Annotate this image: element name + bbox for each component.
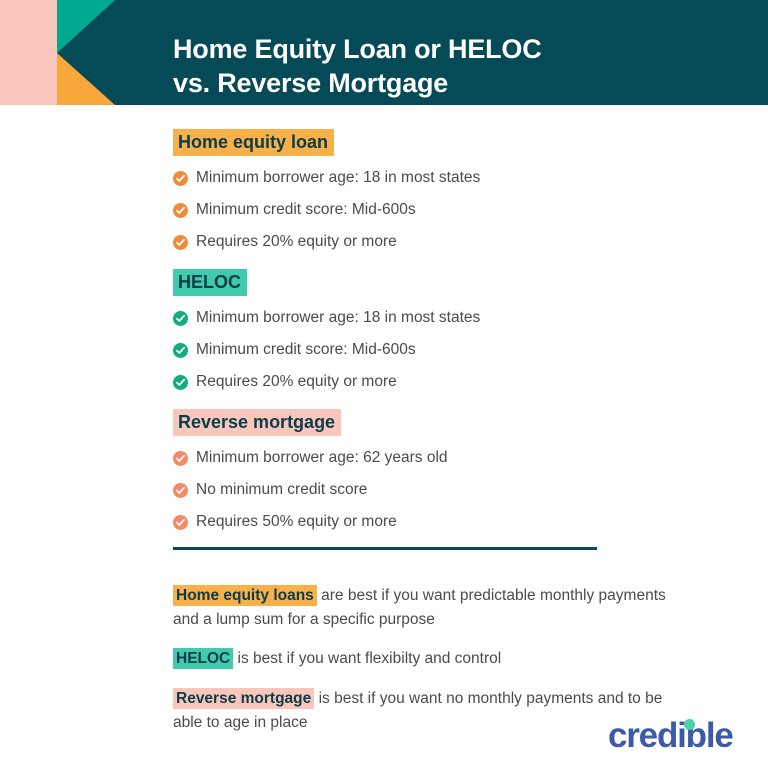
list-item: No minimum credit score — [173, 480, 733, 500]
section-heloc: HELOC Minimum borrower age: 18 in most s… — [173, 269, 733, 392]
section-heading-reverse-mortgage: Reverse mortgage — [173, 409, 341, 436]
list-item-label: Minimum borrower age: 18 in most states — [196, 168, 480, 188]
summary-line-heloc: HELOC is best if you want flexibilty and… — [173, 647, 673, 671]
list-item: Requires 50% equity or more — [173, 512, 733, 532]
section-reverse-mortgage: Reverse mortgage Minimum borrower age: 6… — [173, 409, 733, 532]
check-circle-icon — [173, 343, 188, 358]
bullet-list-home-equity-loan: Minimum borrower age: 18 in most states … — [173, 168, 733, 252]
section-home-equity-loan: Home equity loan Minimum borrower age: 1… — [173, 129, 733, 252]
list-item: Minimum borrower age: 62 years old — [173, 448, 733, 468]
summary-line-reverse-mortgage: Reverse mortgage is best if you want no … — [173, 687, 673, 735]
list-item: Requires 20% equity or more — [173, 232, 733, 252]
credible-logo-wordmark: credible — [608, 716, 733, 755]
list-item-label: No minimum credit score — [196, 480, 367, 500]
list-item: Minimum credit score: Mid-600s — [173, 340, 733, 360]
check-circle-icon — [173, 311, 188, 326]
page-title-line-1: Home Equity Loan or HELOC — [173, 32, 733, 66]
credible-logo[interactable]: credible — [608, 717, 733, 755]
check-circle-icon — [173, 451, 188, 466]
list-item-label: Requires 20% equity or more — [196, 232, 397, 252]
logo-dot-icon — [684, 719, 695, 730]
list-item-label: Minimum borrower age: 18 in most states — [196, 308, 480, 328]
infographic-canvas: Home Equity Loan or HELOC vs. Reverse Mo… — [0, 0, 768, 767]
bullet-list-reverse-mortgage: Minimum borrower age: 62 years old No mi… — [173, 448, 733, 532]
summary-line-home-equity-loan: Home equity loans are best if you want p… — [173, 584, 673, 632]
summary-text: is best if you want flexibilty and contr… — [233, 650, 501, 667]
check-circle-icon — [173, 171, 188, 186]
list-item-label: Requires 20% equity or more — [196, 372, 397, 392]
page-title-line-2: vs. Reverse Mortgage — [173, 66, 733, 100]
summary-tag-home-equity-loans: Home equity loans — [173, 585, 317, 606]
list-item-label: Minimum credit score: Mid-600s — [196, 200, 416, 220]
list-item: Minimum borrower age: 18 in most states — [173, 308, 733, 328]
list-item: Minimum credit score: Mid-600s — [173, 200, 733, 220]
list-item: Minimum borrower age: 18 in most states — [173, 168, 733, 188]
corner-decoration-graphic — [0, 0, 130, 105]
check-circle-icon — [173, 235, 188, 250]
list-item-label: Minimum credit score: Mid-600s — [196, 340, 416, 360]
list-item-label: Requires 50% equity or more — [196, 512, 397, 532]
header-banner: Home Equity Loan or HELOC vs. Reverse Mo… — [0, 0, 768, 105]
bullet-list-heloc: Minimum borrower age: 18 in most states … — [173, 308, 733, 392]
check-circle-icon — [173, 203, 188, 218]
list-item: Requires 20% equity or more — [173, 372, 733, 392]
page-title: Home Equity Loan or HELOC vs. Reverse Mo… — [173, 32, 733, 100]
deco-orange-triangle — [57, 53, 115, 105]
summary-tag-reverse-mortgage: Reverse mortgage — [173, 688, 314, 709]
section-heading-heloc: HELOC — [173, 269, 247, 296]
section-heading-home-equity-loan: Home equity loan — [173, 129, 334, 156]
check-circle-icon — [173, 515, 188, 530]
check-circle-icon — [173, 483, 188, 498]
list-item-label: Minimum borrower age: 62 years old — [196, 448, 448, 468]
check-circle-icon — [173, 375, 188, 390]
section-divider — [173, 547, 597, 550]
summary-block: Home equity loans are best if you want p… — [173, 568, 673, 735]
summary-tag-heloc: HELOC — [173, 648, 233, 669]
